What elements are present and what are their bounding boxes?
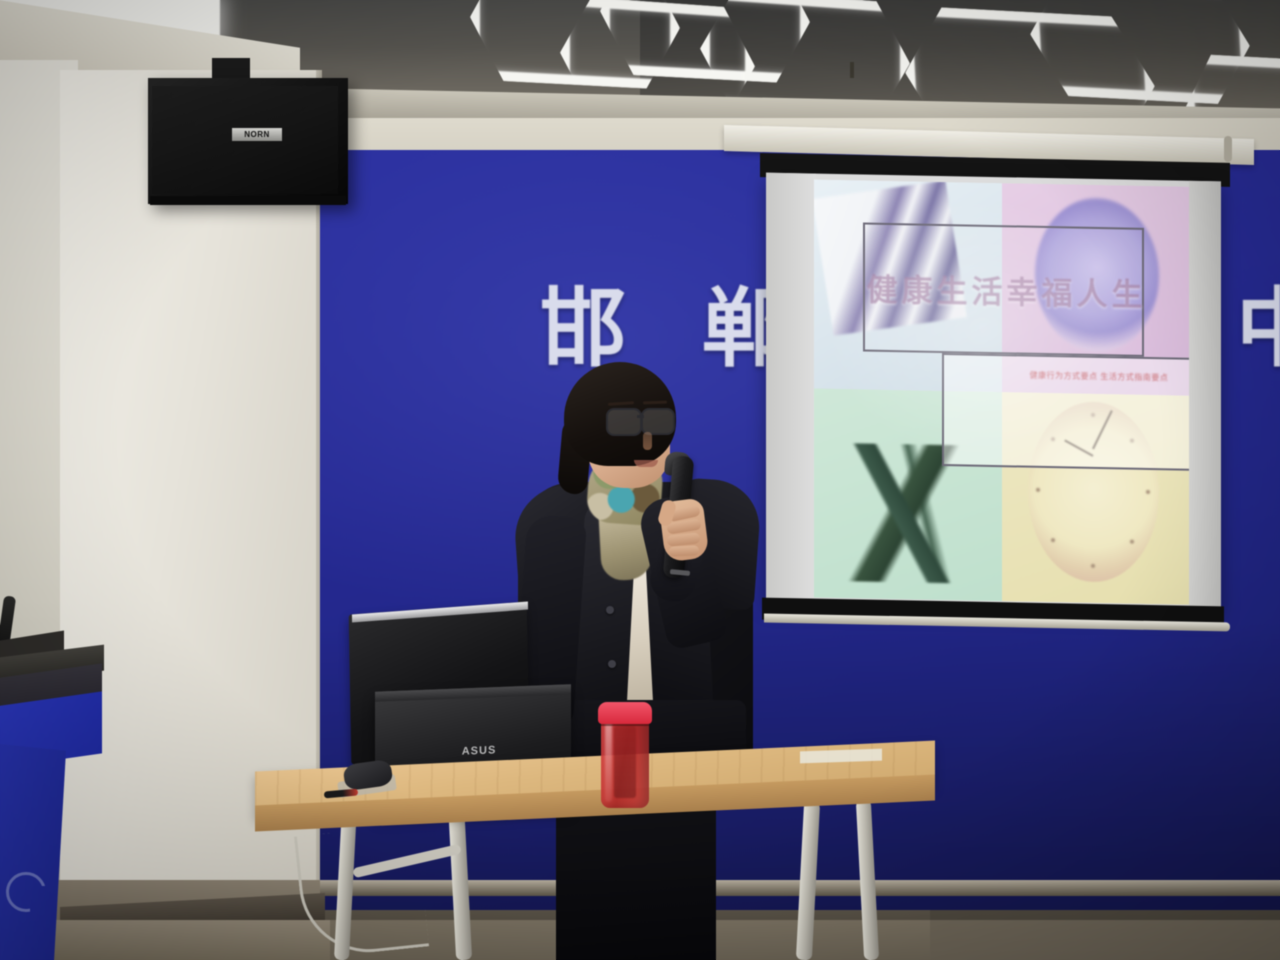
- speaker-brand-badge: NORN: [232, 128, 282, 141]
- backdrop-banner-text-partial: 中: [1236, 258, 1280, 383]
- screen-margin-left: [766, 173, 816, 604]
- slide-title: 健康生活幸福人生: [867, 264, 1175, 315]
- coat-button: [606, 606, 614, 614]
- screen-margin-right: [1189, 181, 1221, 612]
- water-bottle-cap: [598, 702, 652, 724]
- coat-button: [608, 660, 616, 668]
- laptop-brand-logo: ASUS: [455, 743, 503, 758]
- projected-slide: 健康生活幸福人生 健康行为方式要点 生活方式指南要点: [814, 180, 1189, 605]
- presenter-nose: [643, 432, 652, 450]
- photo-scene: 邯 郸 中 NORN: [0, 0, 1280, 960]
- glasses-bridge: [637, 415, 644, 418]
- finger: [669, 545, 699, 557]
- speaker-base: [150, 196, 346, 205]
- screen-mount-bracket: [1224, 136, 1232, 162]
- projector-screen-surface: 健康生活幸福人生 健康行为方式要点 生活方式指南要点: [766, 173, 1221, 612]
- water-bottle-highlight: [605, 716, 612, 802]
- presenter-mouth: [634, 460, 658, 467]
- ceiling-hook: [850, 62, 854, 78]
- water-bottle-label: [614, 726, 636, 798]
- glasses-lens-right: [641, 408, 675, 435]
- glasses-lens-left: [606, 408, 642, 436]
